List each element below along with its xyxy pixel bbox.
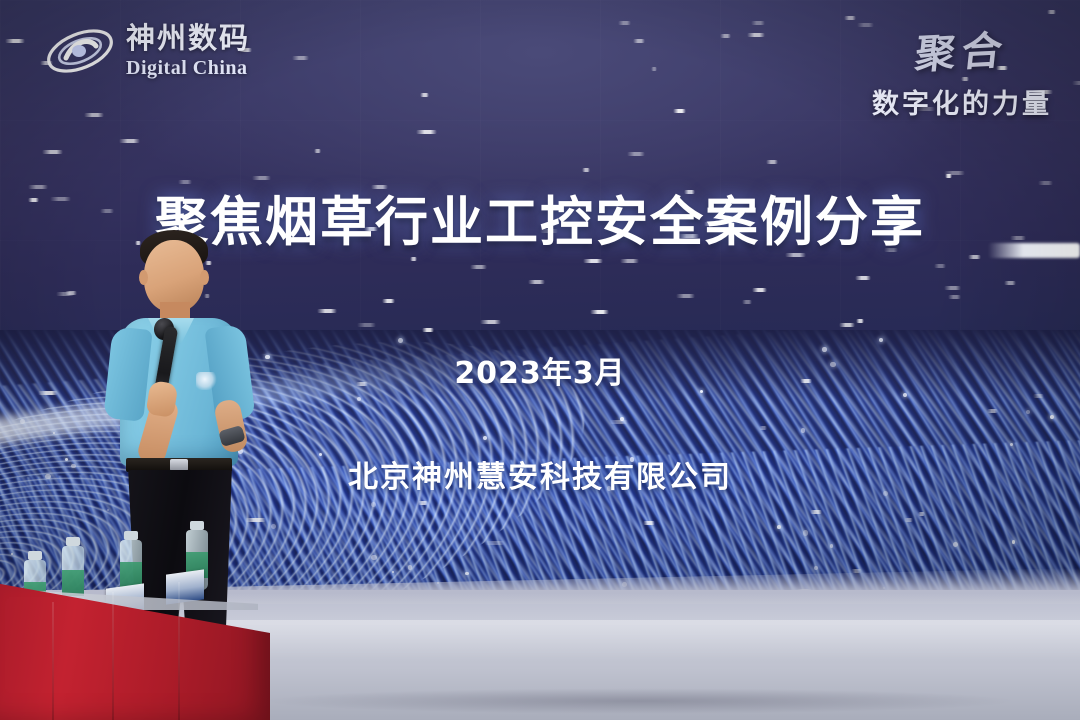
bottle-cap	[124, 531, 138, 540]
bottle-label	[62, 570, 84, 596]
event-theme-lockup: 聚合 数字化的力量	[872, 20, 1052, 121]
theme-subtitle: 数字化的力量	[872, 82, 1052, 121]
speaker-belt-buckle	[170, 459, 188, 471]
table-skirt-fold	[112, 592, 114, 720]
table-skirt-fold	[178, 582, 180, 720]
brand-name-en: Digital China	[126, 58, 250, 78]
foreground-head-table	[0, 540, 290, 720]
brand-name-cn: 神州数码	[126, 24, 250, 53]
bottle-cap	[190, 521, 204, 530]
swirl-galaxy-logo-icon	[44, 20, 116, 82]
bottle-cap	[66, 537, 80, 546]
floor-shadow	[260, 688, 1020, 714]
table-skirt-fold	[52, 602, 54, 720]
speaker-shirt-logo	[196, 372, 218, 390]
speaker-ear-right	[200, 270, 209, 285]
stage-photo-scene: 神州数码 Digital China 聚合 数字化的力量 聚焦烟草行业工控安全案…	[0, 0, 1080, 720]
bottle-cap	[28, 551, 42, 560]
speaker-ear-left	[139, 270, 148, 285]
brand-logo: 神州数码 Digital China	[44, 20, 250, 82]
theme-calligraphy: 聚合	[868, 15, 1055, 82]
